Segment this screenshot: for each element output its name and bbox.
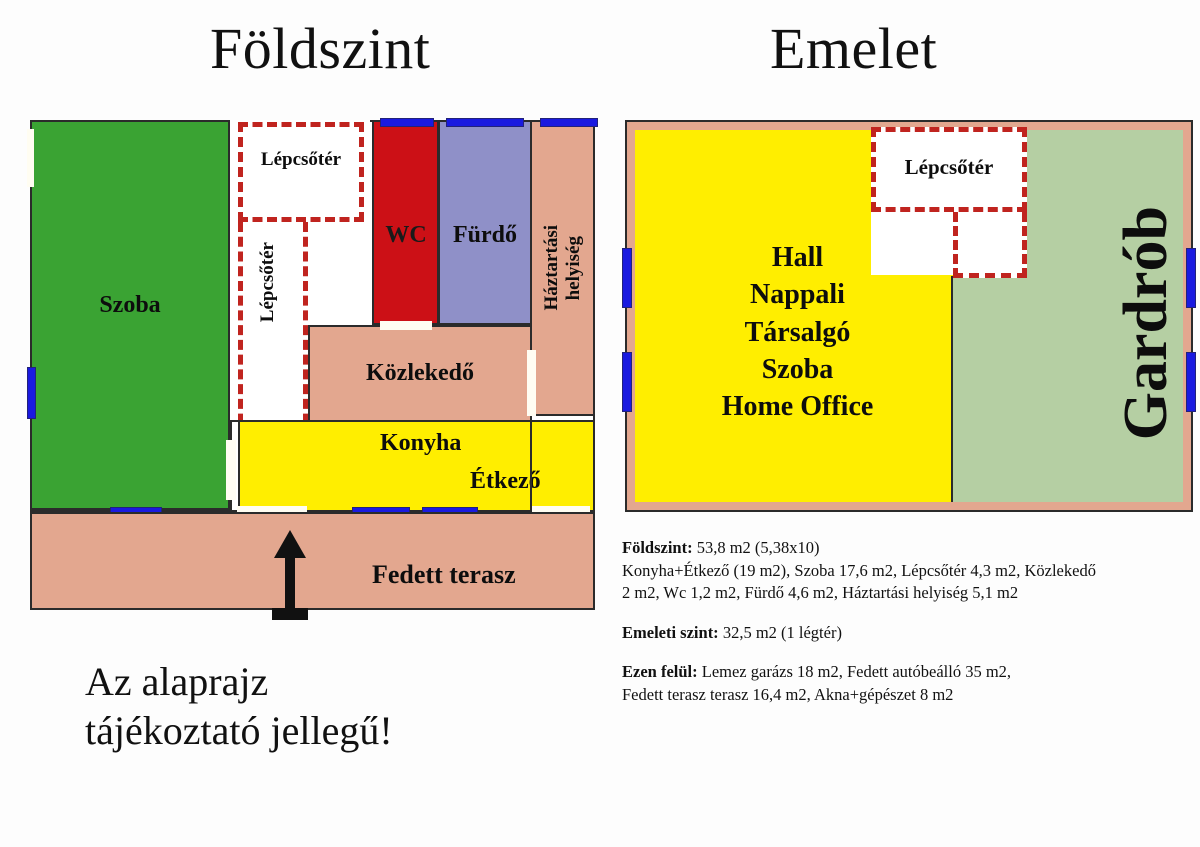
room-lepcsoter-upper-label: Lépcsőtér: [243, 149, 359, 170]
floorplan-page: Földszint Emelet Szoba Lépcsőtér Lépcsőt…: [0, 0, 1200, 847]
room-furdo-label: Fürdő: [453, 222, 517, 249]
entrance-arrow-icon: [268, 528, 312, 624]
room-wc-label: WC: [385, 222, 426, 249]
room-konyha-label: Konyha: [380, 430, 461, 457]
info-line-1-value: 53,8 m2 (5,38x10): [693, 538, 820, 557]
room-gardrob-label: Gardrób: [1115, 206, 1177, 440]
info-line-6: Fedett terasz terasz 16,4 m2, Akna+gépés…: [622, 684, 1194, 707]
info-line-5: Ezen felül: Lemez garázs 18 m2, Fedett a…: [622, 661, 1194, 684]
wall-furdo-haztartasi: [530, 122, 532, 327]
room-kozlekedo: Közlekedő: [308, 325, 532, 422]
door-wc-to-kozlekedo: [380, 321, 432, 330]
upper-floor-label-stack: Hall Nappali Társalgó Szoba Home Office: [665, 242, 930, 423]
room-home-office-label: Home Office: [665, 391, 930, 422]
room-szoba: Szoba: [30, 120, 230, 510]
room-szoba-label: Szoba: [99, 292, 160, 319]
room-nappali-label: Nappali: [665, 279, 930, 310]
area-summary: Földszint: 53,8 m2 (5,38x10) Konyha+Étke…: [622, 537, 1194, 707]
upper-floor-inner: Lépcsőtér Hall Nappali Társalgó Szoba Ho…: [635, 130, 1183, 502]
room-haztartasi-label-2: helyiség: [563, 236, 584, 300]
room-lepcsoter-lower-label: Lépcsőtér: [257, 242, 278, 322]
room-konyha-etkezo: Konyha Étkező: [238, 420, 595, 512]
window-szoba-left-upper: [27, 129, 34, 187]
gardrob-label-wrap: Gardrób: [1115, 158, 1177, 488]
haztartasi-line-1: Háztartási: [541, 225, 562, 310]
room-wc: WC: [372, 120, 440, 325]
room-lepcsoter-upper: Lépcsőtér: [238, 122, 364, 222]
ground-floor-title: Földszint: [210, 15, 430, 82]
disclaimer-line-1: Az alaprajz: [85, 658, 555, 707]
info-line-5-label: Ezen felül:: [622, 662, 698, 681]
info-line-1-label: Földszint:: [622, 538, 693, 557]
window-furdo-top: [446, 118, 524, 127]
window-upper-right-1: [1186, 248, 1196, 308]
room-kozlekedo-label: Közlekedő: [366, 360, 474, 387]
room-haztartasi-label: Háztartási: [541, 225, 562, 310]
upper-floor-title: Emelet: [770, 15, 937, 82]
door-szoba-to-konyha: [226, 440, 236, 500]
info-spacer-2: [622, 644, 1194, 661]
info-line-5-value: Lemez garázs 18 m2, Fedett autóbeálló 35…: [698, 662, 1011, 681]
room-fedett-terasz: Fedett terasz: [30, 512, 595, 610]
door-haztartasi-to-kozlekedo: [527, 350, 536, 416]
info-line-1: Földszint: 53,8 m2 (5,38x10): [622, 537, 1194, 560]
info-line-4: Emeleti szint: 32,5 m2 (1 légtér): [622, 622, 1194, 645]
disclaimer: Az alaprajz tájékoztató jellegű!: [85, 658, 555, 756]
room-haztartasi: Háztartási helyiség: [530, 120, 595, 416]
wall-etkezo-divider: [530, 420, 532, 512]
room-hall-label: Hall: [665, 242, 930, 273]
ground-floor-plan: Szoba Lépcsőtér Lépcsőtér WC Fürdő Házta…: [30, 120, 595, 512]
window-szoba-left: [27, 367, 36, 419]
window-upper-right-2: [1186, 352, 1196, 412]
wall-konyha-top: [230, 420, 595, 422]
window-wc-top: [380, 118, 434, 127]
wall-living-gardrob: [951, 276, 953, 502]
room-lepcsoter-upper-floor-label: Lépcsőtér: [876, 156, 1022, 180]
info-line-4-label: Emeleti szint:: [622, 623, 719, 642]
info-spacer-1: [622, 605, 1194, 622]
window-haztartasi-top: [540, 118, 598, 127]
window-upper-left-2: [622, 352, 632, 412]
room-tarsalgo-label: Társalgó: [665, 317, 930, 348]
room-szoba-upper-label: Szoba: [665, 354, 930, 385]
room-lepcsoter-upper-floor-a: Lépcsőtér: [871, 127, 1027, 212]
wall-wc-furdo: [437, 122, 439, 327]
info-line-4-value: 32,5 m2 (1 légtér): [719, 623, 842, 642]
room-fedett-terasz-label: Fedett terasz: [372, 560, 516, 589]
upper-floor-plan: Lépcsőtér Hall Nappali Társalgó Szoba Ho…: [625, 120, 1193, 512]
info-line-2: Konyha+Étkező (19 m2), Szoba 17,6 m2, Lé…: [622, 560, 1194, 583]
info-line-3: 2 m2, Wc 1,2 m2, Fürdő 4,6 m2, Háztartás…: [622, 582, 1194, 605]
disclaimer-line-2: tájékoztató jellegű!: [85, 707, 555, 756]
room-lepcsoter-upper-floor-b: [953, 212, 1027, 278]
room-furdo: Fürdő: [438, 120, 532, 325]
haztartasi-line-2: helyiség: [563, 236, 584, 300]
window-upper-left-1: [622, 248, 632, 308]
